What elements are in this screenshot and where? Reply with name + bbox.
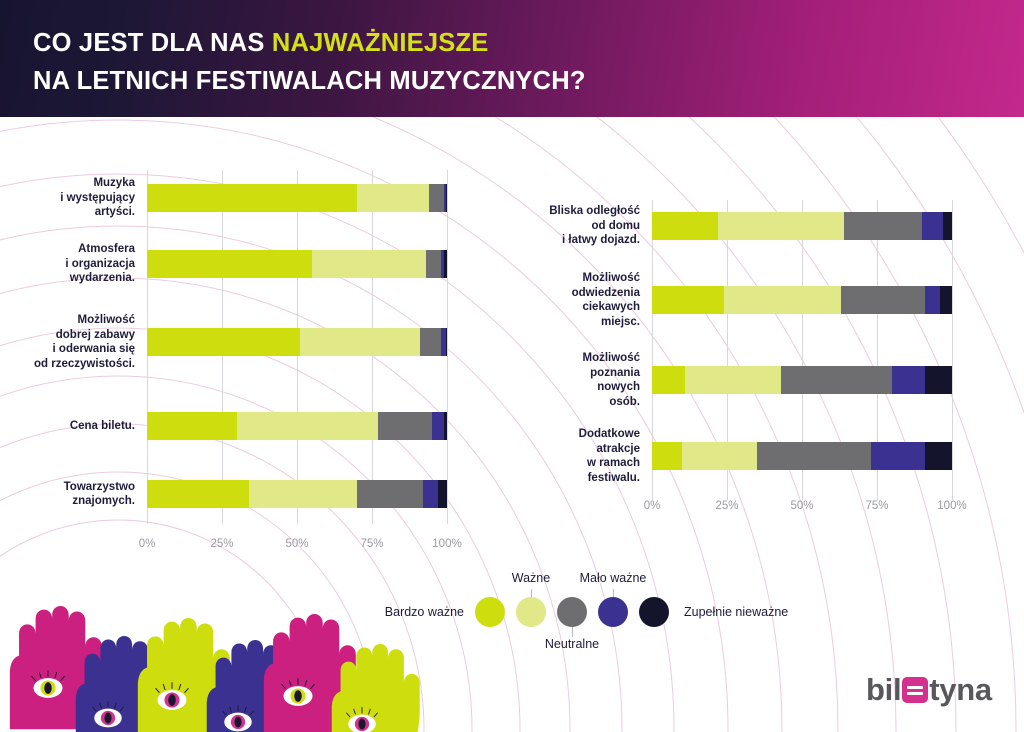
- bar-segment-neutralne: [781, 366, 892, 394]
- stacked-bar: [147, 412, 447, 440]
- header-title-part-plain: CO JEST DLA NAS: [33, 29, 272, 57]
- x-axis-tick: 100%: [937, 500, 966, 512]
- category-label: Cena biletu.: [70, 419, 135, 434]
- legend-label-neutralne: Neutralne: [545, 637, 599, 651]
- bar-segment-neutralne: [429, 184, 444, 212]
- bar-segment-mało-ważne: [432, 412, 444, 440]
- stacked-bar: [652, 366, 952, 394]
- bar-segment-zupełnie-nieważne: [438, 480, 447, 508]
- x-axis-tick: 50%: [285, 538, 308, 550]
- bar-segment-bardzo-ważne: [652, 212, 718, 240]
- stacked-bar: [652, 212, 952, 240]
- raised-hands-illustration: [0, 598, 430, 732]
- x-axis-tick: 50%: [790, 500, 813, 512]
- legend-swatch-mało-ważne[interactable]: [598, 597, 628, 627]
- chart-right-plot-area: Bliska odległośćod domui łatwy dojazd.Mo…: [652, 180, 952, 540]
- bar-segment-neutralne: [420, 328, 441, 356]
- category-label: Dodatkoweatrakcjew ramachfestiwalu.: [579, 427, 640, 485]
- bar-segment-mało-ważne: [925, 286, 940, 314]
- category-label: Towarzystwoznajomych.: [64, 480, 135, 509]
- bar-segment-zupełnie-nieważne: [943, 212, 952, 240]
- x-axis-tick: 75%: [360, 538, 383, 550]
- stacked-bar: [652, 442, 952, 470]
- header-title-part-accent: NAJWAŻNIEJSZE: [272, 29, 489, 57]
- bar-segment-bardzo-ważne: [652, 366, 685, 394]
- chart-left-plot-area: Muzykai występującyartyści.Atmosferai or…: [147, 150, 447, 570]
- bar-segment-ważne: [357, 184, 429, 212]
- category-label: Muzykai występującyartyści.: [60, 176, 135, 220]
- category-label: Możliwośćdobrej zabawyi oderwania sięod …: [34, 313, 135, 371]
- bar-segment-neutralne: [357, 480, 423, 508]
- bar-segment-mało-ważne: [871, 442, 925, 470]
- header-title-line-2: NA LETNICH FESTIWALACH MUZYCZNYCH?: [33, 67, 586, 96]
- bar-segment-ważne: [724, 286, 841, 314]
- bar-segment-ważne: [300, 328, 420, 356]
- stacked-bar: [652, 286, 952, 314]
- x-axis-tick: 25%: [210, 538, 233, 550]
- header-title-line-1: CO JEST DLA NAS NAJWAŻNIEJSZE: [33, 29, 488, 58]
- x-axis-tick: 100%: [432, 538, 461, 550]
- bar-segment-ważne: [312, 250, 426, 278]
- legend-swatch-zupełnie-nieważne[interactable]: [639, 597, 669, 627]
- category-label: Bliska odległośćod domui łatwy dojazd.: [549, 204, 640, 248]
- bar-segment-neutralne: [841, 286, 925, 314]
- bar-segment-zupełnie-nieważne: [444, 412, 447, 440]
- bar-segment-bardzo-ważne: [147, 412, 237, 440]
- bar-segment-zupełnie-nieważne: [446, 328, 448, 356]
- stacked-bar: [147, 184, 447, 212]
- category-label: Możliwośćpoznanianowychosób.: [582, 351, 640, 409]
- bar-segment-bardzo-ważne: [147, 250, 312, 278]
- x-axis-tick: 25%: [715, 500, 738, 512]
- bar-segment-zupełnie-nieważne: [444, 250, 447, 278]
- chart-legend: Bardzo ważneWażneNeutralneMało ważneZupe…: [420, 565, 880, 660]
- legend-label-zupelnie-niewazne: Zupełnie nieważne: [684, 605, 788, 619]
- x-axis-tick: 75%: [865, 500, 888, 512]
- logo-e-mark-icon: [902, 677, 928, 703]
- bar-segment-neutralne: [757, 442, 871, 470]
- stacked-bar: [147, 328, 447, 356]
- gridline: [952, 200, 953, 500]
- legend-label-malo-wazne: Mało ważne: [580, 571, 647, 585]
- legend-stem-malo-wazne: [613, 589, 614, 597]
- brand-logo[interactable]: biltyna: [866, 672, 992, 708]
- legend-stem-neutralne: [572, 627, 573, 637]
- legend-label-wazne: Ważne: [512, 571, 550, 585]
- bar-segment-ważne: [718, 212, 844, 240]
- bar-segment-bardzo-ważne: [147, 184, 357, 212]
- bar-segment-ważne: [249, 480, 357, 508]
- infographic-root: CO JEST DLA NAS NAJWAŻNIEJSZE NA LETNICH…: [0, 0, 1024, 732]
- x-axis-tick: 0%: [139, 538, 156, 550]
- legend-stem-wazne: [531, 589, 532, 597]
- bar-segment-bardzo-ważne: [147, 480, 249, 508]
- bar-segment-neutralne: [426, 250, 441, 278]
- chart-left: Muzykai występującyartyści.Atmosferai or…: [0, 150, 480, 570]
- bar-segment-zupełnie-nieważne: [925, 442, 952, 470]
- stacked-bar: [147, 250, 447, 278]
- gridline: [447, 170, 448, 524]
- legend-swatch-neutralne[interactable]: [557, 597, 587, 627]
- chart-right-rows: Bliska odległośćod domui łatwy dojazd.Mo…: [652, 180, 952, 540]
- legend-swatch-ważne[interactable]: [516, 597, 546, 627]
- chart-right: Bliska odległośćod domui łatwy dojazd.Mo…: [505, 180, 1005, 540]
- bar-segment-zupełnie-nieważne: [940, 286, 952, 314]
- category-label: Możliwośćodwiedzeniaciekawychmiejsc.: [572, 271, 640, 329]
- stacked-bar: [147, 480, 447, 508]
- bar-segment-zupełnie-nieważne: [925, 366, 952, 394]
- bar-segment-ważne: [682, 442, 757, 470]
- logo-text-after: tyna: [929, 672, 992, 707]
- bar-segment-mało-ważne: [892, 366, 925, 394]
- bar-segment-ważne: [237, 412, 378, 440]
- bar-segment-bardzo-ważne: [147, 328, 300, 356]
- bar-segment-mało-ważne: [922, 212, 943, 240]
- bar-segment-neutralne: [378, 412, 432, 440]
- bar-segment-ważne: [685, 366, 781, 394]
- x-axis-tick: 0%: [644, 500, 661, 512]
- bar-segment-zupełnie-nieważne: [446, 184, 448, 212]
- bar-segment-bardzo-ważne: [652, 442, 682, 470]
- legend-swatch-bardzo-ważne[interactable]: [475, 597, 505, 627]
- chart-left-rows: Muzykai występującyartyści.Atmosferai or…: [147, 150, 447, 570]
- bar-segment-neutralne: [844, 212, 922, 240]
- bar-segment-bardzo-ważne: [652, 286, 724, 314]
- category-label: Atmosferai organizacjawydarzenia.: [65, 242, 135, 286]
- bar-segment-mało-ważne: [423, 480, 438, 508]
- logo-text-before: bil: [866, 672, 901, 707]
- header-banner: CO JEST DLA NAS NAJWAŻNIEJSZE NA LETNICH…: [0, 0, 1024, 117]
